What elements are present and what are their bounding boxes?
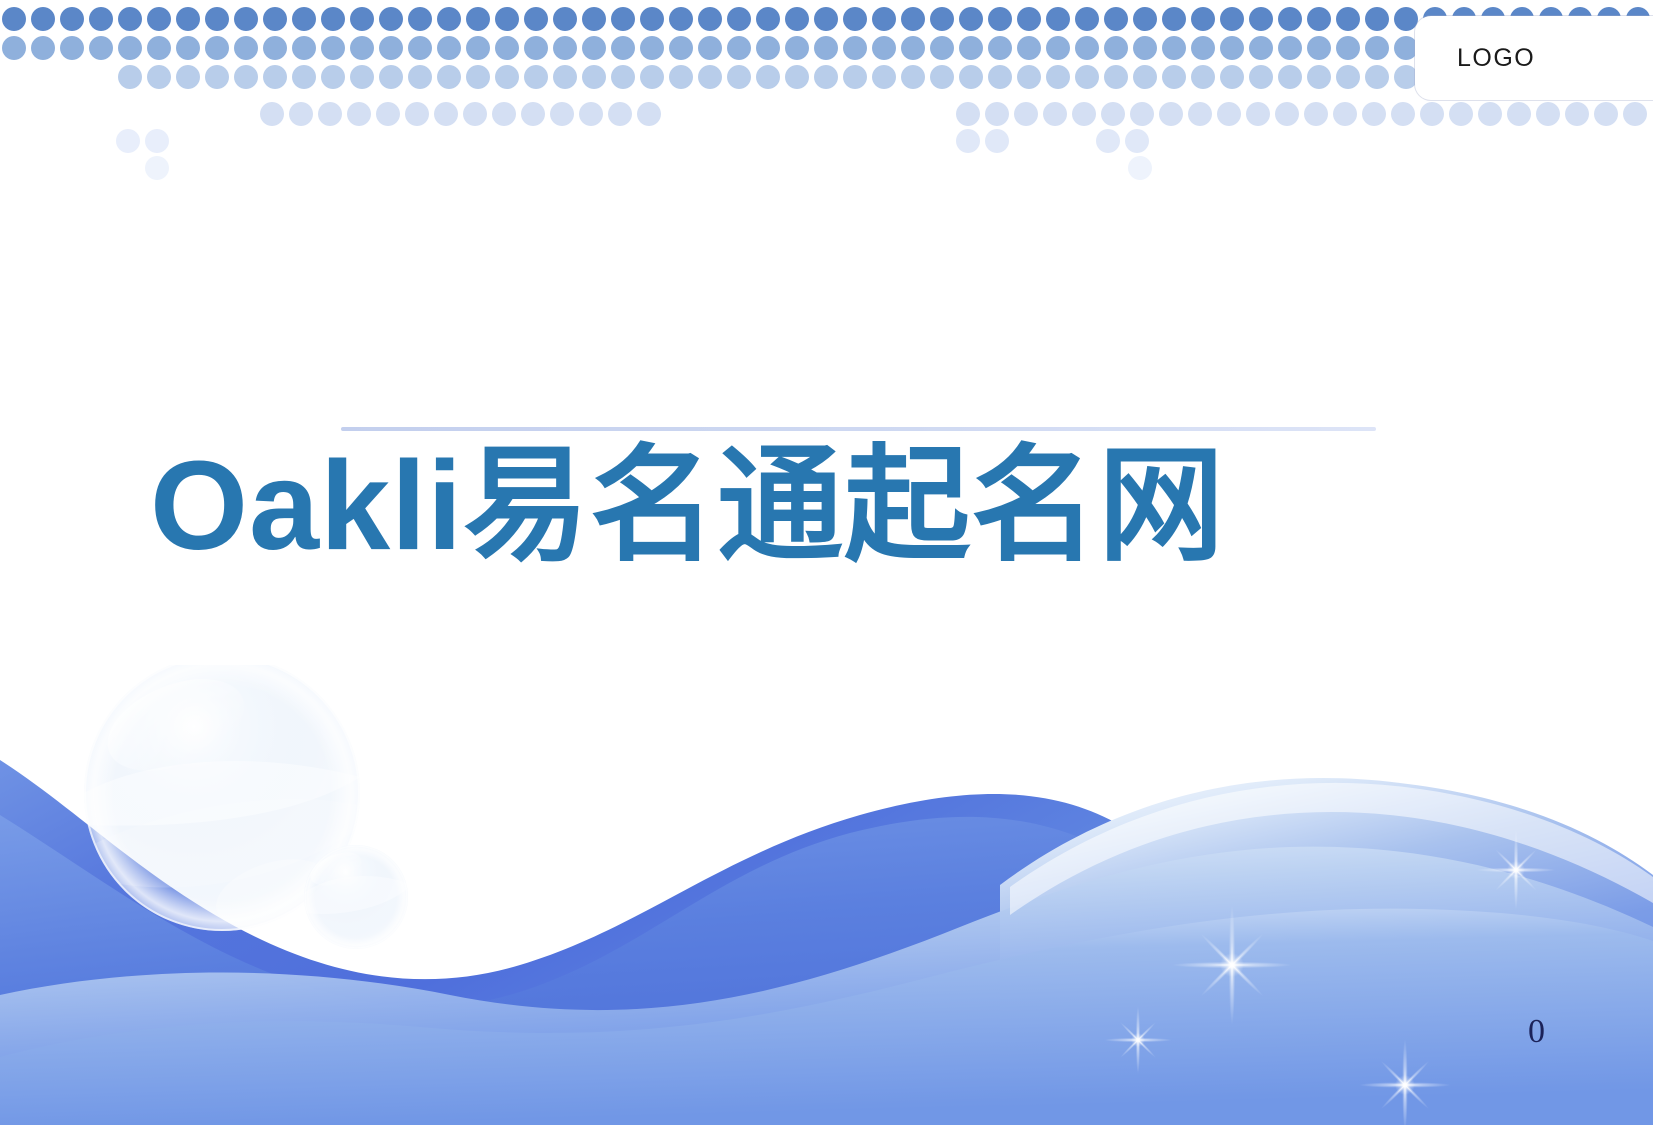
pattern-dot — [1275, 102, 1299, 126]
pattern-dot — [608, 102, 632, 126]
pattern-dot — [640, 65, 664, 89]
pattern-dot — [1333, 102, 1357, 126]
pattern-dot — [466, 36, 490, 60]
pattern-dot — [1220, 65, 1244, 89]
pattern-dot — [959, 36, 983, 60]
pattern-dot — [1075, 7, 1099, 31]
pattern-dot — [1365, 7, 1389, 31]
pattern-dot — [582, 65, 606, 89]
pattern-dot — [698, 7, 722, 31]
pattern-dot — [988, 36, 1012, 60]
slide-canvas: LOGO Oakli易名通起名网 — [0, 0, 1653, 1125]
pattern-dot — [756, 36, 780, 60]
wave-artwork — [0, 665, 1653, 1125]
pattern-dot — [1188, 102, 1212, 126]
pattern-dot — [118, 36, 142, 60]
pattern-dot — [1072, 102, 1096, 126]
pattern-dot — [785, 36, 809, 60]
pattern-dot — [814, 7, 838, 31]
pattern-dot — [901, 36, 925, 60]
page-title: Oakli易名通起名网 — [150, 432, 1550, 581]
pattern-dot — [292, 36, 316, 60]
pattern-dot — [495, 36, 519, 60]
pattern-dot — [669, 36, 693, 60]
sparkle-star — [1172, 905, 1292, 1025]
pattern-dot — [524, 7, 548, 31]
pattern-dot — [1014, 102, 1038, 126]
pattern-dot — [1133, 65, 1157, 89]
pattern-dot — [31, 36, 55, 60]
pattern-dot — [350, 65, 374, 89]
pattern-dot — [637, 102, 661, 126]
pattern-dot — [1420, 102, 1444, 126]
pattern-dot — [1623, 102, 1647, 126]
pattern-dot — [1594, 102, 1618, 126]
pattern-dot — [988, 65, 1012, 89]
pattern-dot — [1304, 102, 1328, 126]
pattern-dot — [2, 36, 26, 60]
pattern-dot — [872, 7, 896, 31]
pattern-dot — [1133, 36, 1157, 60]
pattern-dot — [930, 7, 954, 31]
pattern-dot — [1162, 65, 1186, 89]
pattern-dot — [1217, 102, 1241, 126]
pattern-dot — [579, 102, 603, 126]
pattern-dot — [205, 36, 229, 60]
pattern-dot — [1565, 102, 1589, 126]
pattern-dot — [1162, 7, 1186, 31]
pattern-dot — [785, 65, 809, 89]
pattern-dot — [1365, 36, 1389, 60]
pattern-dot — [289, 102, 313, 126]
pattern-dot — [1096, 129, 1120, 153]
pattern-dot — [1075, 65, 1099, 89]
pattern-dot — [1391, 102, 1415, 126]
pattern-dot — [263, 65, 287, 89]
pattern-dot — [1130, 102, 1154, 126]
pattern-dot — [1159, 102, 1183, 126]
pattern-dot — [60, 7, 84, 31]
pattern-dot — [1246, 102, 1270, 126]
page-number: 0 — [1528, 1013, 1545, 1051]
pattern-dot — [1191, 7, 1215, 31]
pattern-dot — [1162, 36, 1186, 60]
pattern-dot — [930, 65, 954, 89]
pattern-dot — [437, 65, 461, 89]
pattern-dot — [843, 36, 867, 60]
pattern-dot — [260, 102, 284, 126]
pattern-dot — [466, 7, 490, 31]
wave-hill-mid — [0, 847, 1653, 1125]
pattern-dot — [756, 7, 780, 31]
pattern-dot — [959, 7, 983, 31]
pattern-dot — [1075, 36, 1099, 60]
pattern-dot — [437, 36, 461, 60]
large-bubble — [84, 665, 380, 939]
small-bubble — [304, 845, 412, 949]
pattern-dot — [1191, 36, 1215, 60]
pattern-dot — [176, 65, 200, 89]
sparkle-star — [1359, 1039, 1451, 1125]
pattern-dot — [1017, 7, 1041, 31]
pattern-dot — [31, 7, 55, 31]
pattern-dot — [1507, 102, 1531, 126]
pattern-dot — [145, 156, 169, 180]
wave-ribbon-mid — [0, 815, 1110, 1125]
pattern-dot — [234, 65, 258, 89]
pattern-dot — [234, 36, 258, 60]
pattern-dot — [1046, 65, 1070, 89]
pattern-dot — [1394, 7, 1418, 31]
pattern-dot — [1278, 65, 1302, 89]
pattern-dot — [495, 65, 519, 89]
pattern-dot — [1220, 36, 1244, 60]
pattern-dot — [408, 65, 432, 89]
pattern-dot — [1365, 65, 1389, 89]
pattern-dot — [1128, 156, 1152, 180]
pattern-dot — [930, 36, 954, 60]
pattern-dot — [205, 7, 229, 31]
pattern-dot — [640, 36, 664, 60]
pattern-dot — [785, 7, 809, 31]
pattern-dot — [1536, 102, 1560, 126]
pattern-dot — [263, 36, 287, 60]
pattern-dot — [234, 7, 258, 31]
pattern-dot — [1449, 102, 1473, 126]
pattern-dot — [263, 7, 287, 31]
pattern-dot — [1104, 36, 1128, 60]
pattern-dot — [408, 36, 432, 60]
pattern-dot — [1336, 65, 1360, 89]
pattern-dot — [582, 36, 606, 60]
pattern-dot — [669, 7, 693, 31]
pattern-dot — [553, 36, 577, 60]
dot-grid-decoration — [0, 0, 1653, 200]
pattern-dot — [466, 65, 490, 89]
pattern-dot — [350, 36, 374, 60]
pattern-dot — [1307, 36, 1331, 60]
pattern-dot — [1125, 129, 1149, 153]
pattern-dot — [89, 36, 113, 60]
pattern-dot — [147, 65, 171, 89]
wave-hill-right — [1000, 778, 1653, 1125]
pattern-dot — [1101, 102, 1125, 126]
pattern-dot — [1191, 65, 1215, 89]
pattern-dot — [292, 65, 316, 89]
pattern-dot — [321, 65, 345, 89]
pattern-dot — [727, 36, 751, 60]
pattern-dot — [985, 102, 1009, 126]
pattern-dot — [524, 36, 548, 60]
pattern-dot — [350, 7, 374, 31]
pattern-dot — [147, 36, 171, 60]
pattern-dot — [843, 7, 867, 31]
pattern-dot — [492, 102, 516, 126]
pattern-dot — [408, 7, 432, 31]
pattern-dot — [756, 65, 780, 89]
pattern-dot — [524, 65, 548, 89]
pattern-dot — [521, 102, 545, 126]
pattern-dot — [1017, 36, 1041, 60]
pattern-dot — [611, 65, 635, 89]
pattern-dot — [698, 36, 722, 60]
pattern-dot — [1249, 36, 1273, 60]
pattern-dot — [553, 65, 577, 89]
pattern-dot — [379, 36, 403, 60]
pattern-dot — [843, 65, 867, 89]
wave-ribbon-dark — [0, 760, 1120, 1125]
pattern-dot — [901, 65, 925, 89]
pattern-dot — [988, 7, 1012, 31]
pattern-dot — [1336, 7, 1360, 31]
pattern-dot — [1249, 7, 1273, 31]
pattern-dot — [956, 102, 980, 126]
pattern-dot — [727, 7, 751, 31]
pattern-dot — [437, 7, 461, 31]
pattern-dot — [1278, 7, 1302, 31]
pattern-dot — [814, 36, 838, 60]
pattern-dot — [611, 36, 635, 60]
pattern-dot — [321, 7, 345, 31]
pattern-dot — [956, 129, 980, 153]
pattern-dot — [1220, 7, 1244, 31]
pattern-dot — [640, 7, 664, 31]
pattern-dot — [698, 65, 722, 89]
pattern-dot — [872, 65, 896, 89]
pattern-dot — [405, 102, 429, 126]
pattern-dot — [376, 102, 400, 126]
pattern-dot — [1307, 7, 1331, 31]
pattern-dot — [727, 65, 751, 89]
logo-text: LOGO — [1457, 44, 1535, 73]
pattern-dot — [176, 7, 200, 31]
pattern-dot — [1017, 65, 1041, 89]
pattern-dot — [1104, 7, 1128, 31]
pattern-dot — [205, 65, 229, 89]
pattern-dot — [434, 102, 458, 126]
pattern-dot — [1249, 65, 1273, 89]
pattern-dot — [814, 65, 838, 89]
pattern-dot — [116, 129, 140, 153]
sparkle-star — [1104, 1006, 1172, 1074]
pattern-dot — [582, 7, 606, 31]
pattern-dot — [1307, 65, 1331, 89]
pattern-dot — [118, 7, 142, 31]
pattern-dot — [176, 36, 200, 60]
pattern-dot — [1043, 102, 1067, 126]
sparkle-star — [1476, 830, 1556, 910]
title-rule — [341, 427, 1376, 431]
pattern-dot — [872, 36, 896, 60]
pattern-dot — [1278, 36, 1302, 60]
pattern-dot — [60, 36, 84, 60]
pattern-dot — [1104, 65, 1128, 89]
pattern-dot — [118, 65, 142, 89]
pattern-dot — [379, 65, 403, 89]
pattern-dot — [347, 102, 371, 126]
pattern-dot — [145, 129, 169, 153]
sparkle-group — [1104, 830, 1556, 1125]
wave-crest-highlight — [1010, 783, 1653, 915]
pattern-dot — [553, 7, 577, 31]
pattern-dot — [1133, 7, 1157, 31]
pattern-dot — [959, 65, 983, 89]
pattern-dot — [985, 129, 1009, 153]
pattern-dot — [318, 102, 342, 126]
pattern-dot — [1478, 102, 1502, 126]
pattern-dot — [2, 7, 26, 31]
pattern-dot — [321, 36, 345, 60]
logo-plate[interactable]: LOGO — [1415, 16, 1653, 100]
pattern-dot — [147, 7, 171, 31]
pattern-dot — [669, 65, 693, 89]
pattern-dot — [89, 7, 113, 31]
pattern-dot — [901, 7, 925, 31]
pattern-dot — [550, 102, 574, 126]
pattern-dot — [611, 7, 635, 31]
pattern-dot — [1336, 36, 1360, 60]
pattern-dot — [1362, 102, 1386, 126]
pattern-dot — [379, 7, 403, 31]
wave-hill-front — [0, 909, 1653, 1125]
pattern-dot — [1046, 7, 1070, 31]
pattern-dot — [463, 102, 487, 126]
pattern-dot — [1046, 36, 1070, 60]
pattern-dot — [495, 7, 519, 31]
pattern-dot — [292, 7, 316, 31]
